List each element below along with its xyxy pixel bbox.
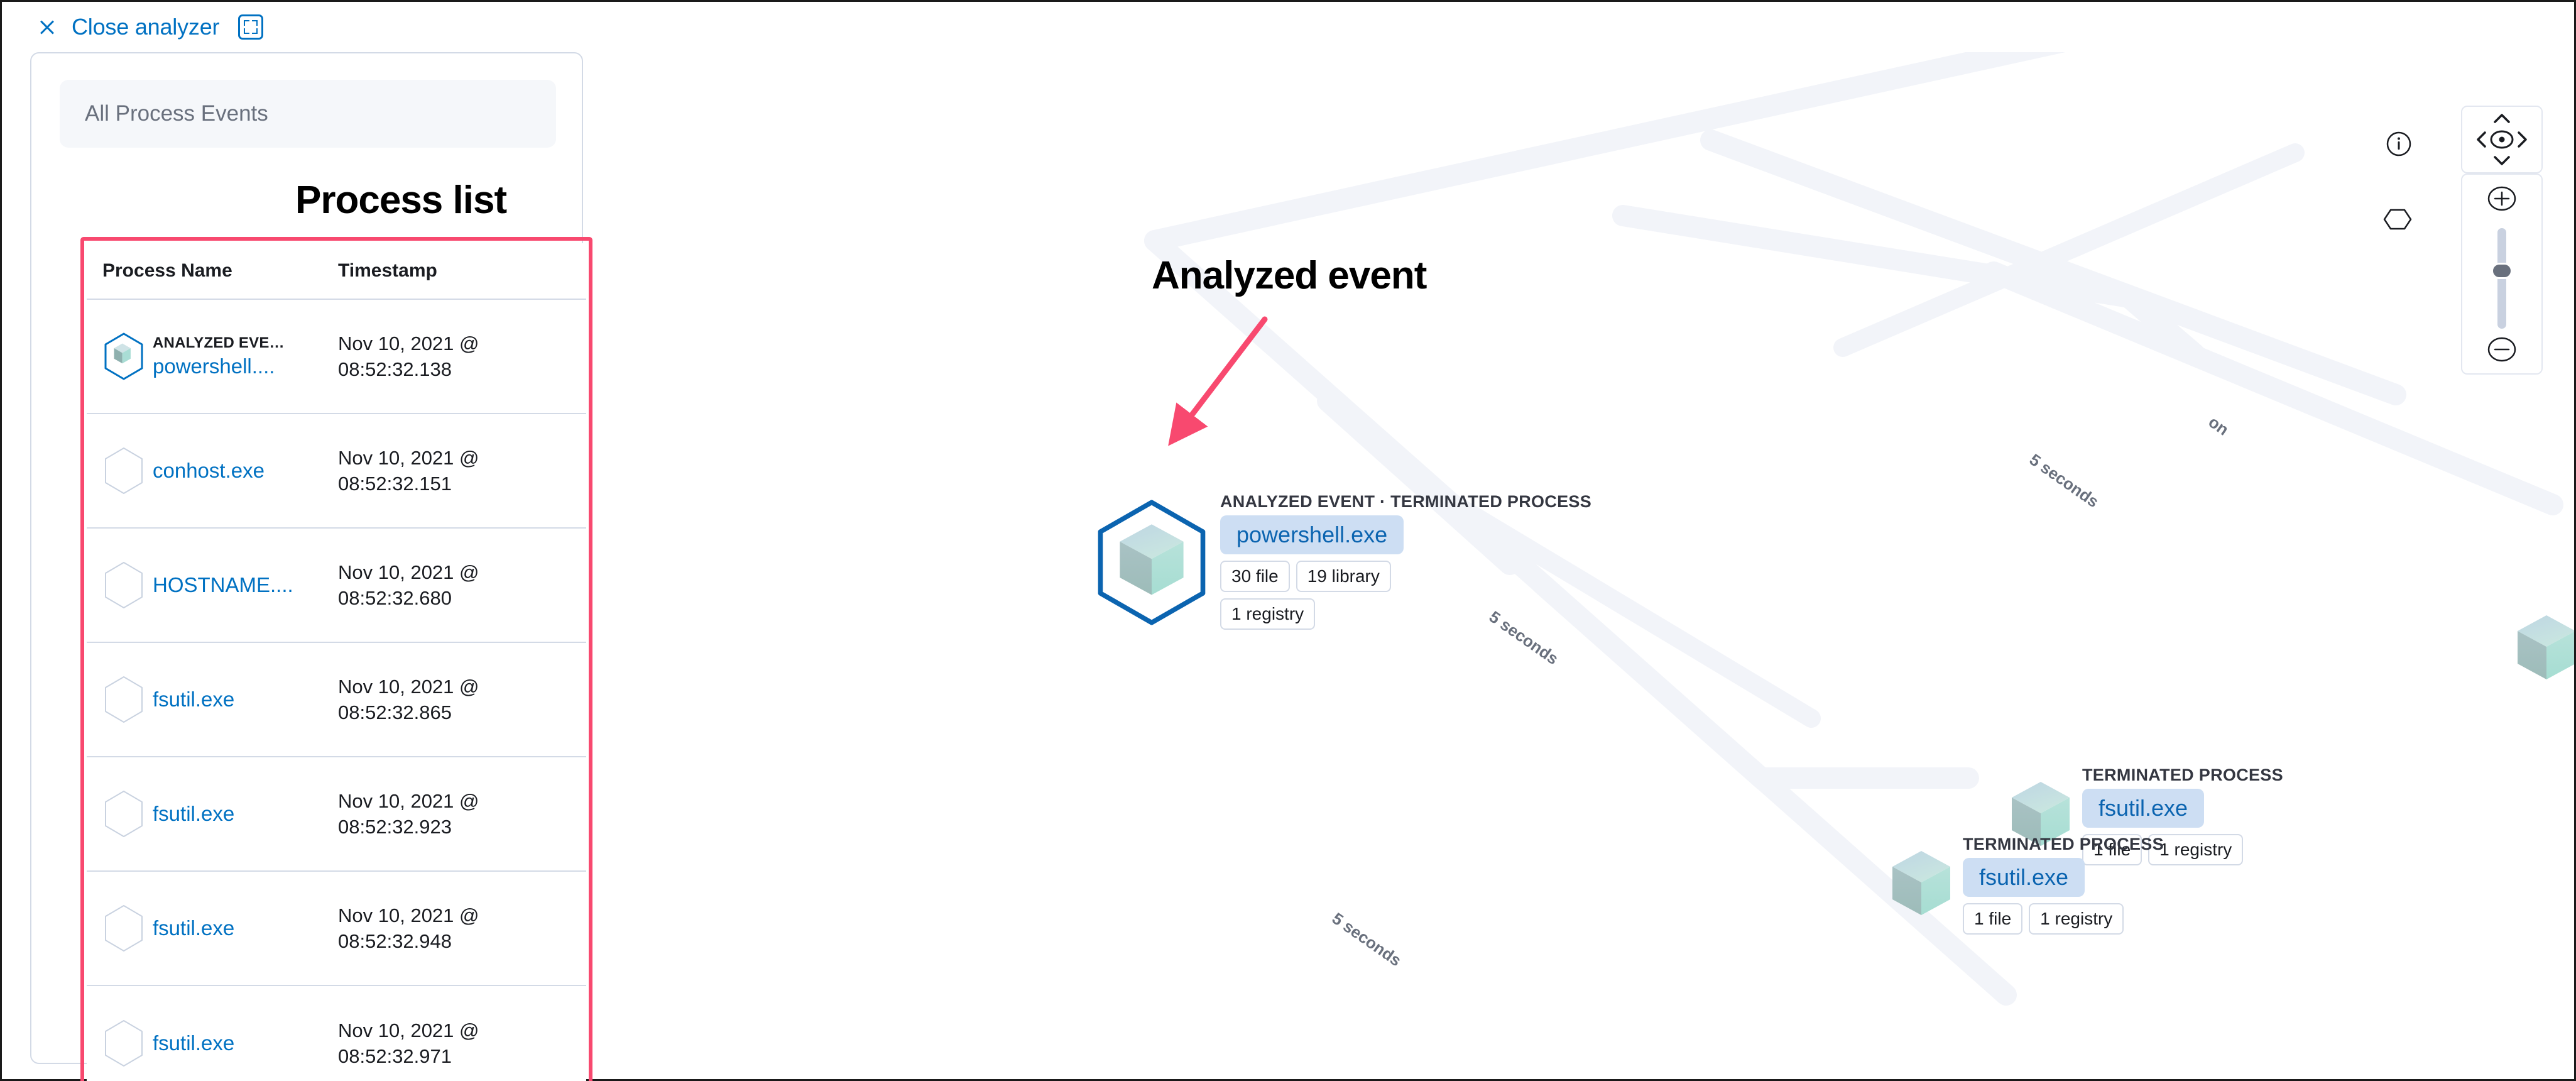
process-name-link[interactable]: fsutil.exe xyxy=(153,916,234,940)
process-hexagon-icon xyxy=(102,789,145,838)
graph-node-powershell[interactable]: ANALYZED EVENT · TERMINATED PROCESSpower… xyxy=(1117,492,1591,630)
table-row[interactable]: fsutil.exeNov 10, 2021 @08:52:32.948 xyxy=(87,872,586,986)
graph-node-fsutil-bottom[interactable]: TERMINATED PROCESSfsutil.exe1 file1 regi… xyxy=(1890,835,2164,935)
hexagon-icon[interactable] xyxy=(2383,205,2412,234)
table-row[interactable]: ANALYZED EVE…powershell....Nov 10, 2021 … xyxy=(87,300,586,414)
timestamp-date: Nov 10, 2021 @ xyxy=(338,1018,577,1043)
fullscreen-corner-tr xyxy=(252,20,258,26)
cell-timestamp: Nov 10, 2021 @08:52:32.138 xyxy=(338,331,577,382)
graph-node-fsutil-right[interactable]: TERMINATED Pfsutil.exe1 file1 regis xyxy=(2515,580,2574,718)
table-header-row: Process Name Timestamp xyxy=(87,243,586,300)
process-cube-icon[interactable] xyxy=(1890,849,1953,920)
pan-control-group[interactable] xyxy=(2461,106,2543,173)
table-row[interactable]: conhost.exeNov 10, 2021 @08:52:32.151 xyxy=(87,414,586,529)
plus-circle-icon[interactable] xyxy=(2487,186,2516,211)
table-row[interactable]: fsutil.exeNov 10, 2021 @08:52:32.971 xyxy=(87,986,586,1081)
column-header-process-name: Process Name xyxy=(87,260,338,282)
table-body: ANALYZED EVE…powershell....Nov 10, 2021 … xyxy=(87,300,586,1081)
node-process-label[interactable]: fsutil.exe xyxy=(2082,789,2204,828)
process-hexagon-icon xyxy=(102,675,145,724)
cell-timestamp: Nov 10, 2021 @08:52:32.865 xyxy=(338,674,577,725)
process-cube-icon[interactable] xyxy=(1117,522,1186,600)
info-circle-icon[interactable] xyxy=(2386,131,2412,157)
process-name-link[interactable]: conhost.exe xyxy=(153,459,265,483)
node-badge[interactable]: 1 registry xyxy=(1220,598,1315,630)
node-badge-group: 30 file19 library1 registry xyxy=(1220,561,1434,630)
timestamp-time: 08:52:32.138 xyxy=(338,356,577,382)
process-name-link[interactable]: fsutil.exe xyxy=(153,802,234,826)
annotation-arrow-icon xyxy=(1139,304,1315,467)
node-info: ANALYZED EVENT · TERMINATED PROCESSpower… xyxy=(1220,492,1591,630)
node-process-label[interactable]: fsutil.exe xyxy=(1963,858,2085,897)
analyzer-screen: Close analyzer All Process Events Proces… xyxy=(0,0,2576,1081)
cell-timestamp: Nov 10, 2021 @08:52:32.680 xyxy=(338,559,577,611)
analyzer-topbar: Close analyzer xyxy=(2,2,2574,52)
node-badge[interactable]: 19 library xyxy=(1296,561,1391,592)
process-name-stack: fsutil.exe xyxy=(153,916,234,940)
close-x-icon[interactable] xyxy=(36,16,58,38)
cell-timestamp: Nov 10, 2021 @08:52:32.971 xyxy=(338,1018,577,1069)
process-name-stack: fsutil.exe xyxy=(153,688,234,711)
annotation-process-list: Process list xyxy=(295,178,506,222)
process-list-panel: All Process Events Process list Process … xyxy=(30,52,583,1064)
timestamp-time: 08:52:32.923 xyxy=(338,814,577,840)
event-filter-tabstrip[interactable]: All Process Events xyxy=(60,80,556,148)
fullscreen-corner-br xyxy=(252,28,258,34)
timestamp-date: Nov 10, 2021 @ xyxy=(338,331,577,356)
timestamp-time: 08:52:32.948 xyxy=(338,928,577,954)
zoom-control-group[interactable] xyxy=(2461,173,2543,375)
cell-process-name: fsutil.exe xyxy=(87,675,338,724)
timestamp-date: Nov 10, 2021 @ xyxy=(338,674,577,700)
node-process-label[interactable]: powershell.exe xyxy=(1220,515,1404,554)
cell-timestamp: Nov 10, 2021 @08:52:32.923 xyxy=(338,788,577,840)
table-row[interactable]: HOSTNAME....Nov 10, 2021 @08:52:32.680 xyxy=(87,529,586,643)
process-name-link[interactable]: fsutil.exe xyxy=(153,1031,234,1055)
node-eyebrow: ANALYZED EVENT · TERMINATED PROCESS xyxy=(1220,492,1591,512)
close-analyzer-button[interactable]: Close analyzer xyxy=(72,14,219,40)
node-badge[interactable]: 30 file xyxy=(1220,561,1290,592)
cell-process-name: fsutil.exe xyxy=(87,904,338,953)
timestamp-date: Nov 10, 2021 @ xyxy=(338,903,577,928)
process-hexagon-icon xyxy=(102,561,145,610)
fullscreen-corner-tl xyxy=(244,20,249,26)
table-row[interactable]: fsutil.exeNov 10, 2021 @08:52:32.865 xyxy=(87,643,586,757)
timestamp-time: 08:52:32.151 xyxy=(338,471,577,497)
fullscreen-icon[interactable] xyxy=(238,14,263,40)
cell-process-name: ANALYZED EVE…powershell.... xyxy=(87,332,338,381)
zoom-slider-thumb[interactable] xyxy=(2491,263,2513,279)
process-table: Process Name Timestamp ANALYZED EVE…powe… xyxy=(87,243,586,1081)
timestamp-time: 08:52:32.865 xyxy=(338,700,577,725)
cell-process-name: conhost.exe xyxy=(87,446,338,495)
cell-timestamp: Nov 10, 2021 @08:52:32.948 xyxy=(338,903,577,954)
column-header-timestamp: Timestamp xyxy=(338,260,577,282)
process-name-stack: fsutil.exe xyxy=(153,1031,234,1055)
cell-process-name: HOSTNAME.... xyxy=(87,561,338,610)
minus-circle-icon[interactable] xyxy=(2487,337,2516,362)
node-eyebrow: TERMINATED PROCESS xyxy=(2082,765,2283,785)
tab-all-process-events[interactable]: All Process Events xyxy=(60,101,268,126)
cell-timestamp: Nov 10, 2021 @08:52:32.151 xyxy=(338,445,577,497)
cell-process-name: fsutil.exe xyxy=(87,1019,338,1068)
node-badge[interactable]: 1 registry xyxy=(2029,903,2124,935)
process-hexagon-icon xyxy=(102,446,145,495)
timestamp-date: Nov 10, 2021 @ xyxy=(338,445,577,471)
process-cube-icon[interactable] xyxy=(2515,613,2574,684)
process-name-link[interactable]: fsutil.exe xyxy=(153,688,234,711)
analyzed-cube-icon xyxy=(102,332,145,381)
timestamp-date: Nov 10, 2021 @ xyxy=(338,559,577,585)
timestamp-date: Nov 10, 2021 @ xyxy=(338,788,577,814)
table-row[interactable]: fsutil.exeNov 10, 2021 @08:52:32.923 xyxy=(87,757,586,872)
cell-process-name: fsutil.exe xyxy=(87,789,338,838)
process-name-stack: fsutil.exe xyxy=(153,802,234,826)
fullscreen-corner-bl xyxy=(244,28,249,34)
process-graph-canvas[interactable]: Analyzed event 5 seconds 5 seconds 5 sec… xyxy=(586,52,2574,1079)
process-hexagon-icon xyxy=(102,1019,145,1068)
process-hexagon-icon xyxy=(102,904,145,953)
process-name-link[interactable]: HOSTNAME.... xyxy=(153,573,293,597)
node-badge[interactable]: 1 file xyxy=(1963,903,2022,935)
node-badge-group: 1 file1 registry xyxy=(1963,903,2164,935)
node-info: TERMINATED PROCESSfsutil.exe1 file1 regi… xyxy=(1963,835,2164,935)
annotation-analyzed-event: Analyzed event xyxy=(1152,253,1426,298)
process-name-stack: HOSTNAME.... xyxy=(153,573,293,597)
timestamp-time: 08:52:32.971 xyxy=(338,1043,577,1069)
process-name-stack: conhost.exe xyxy=(153,459,265,483)
process-name-link[interactable]: powershell.... xyxy=(153,354,285,378)
analyzed-event-eyebrow: ANALYZED EVE… xyxy=(153,334,285,352)
process-name-stack: ANALYZED EVE…powershell.... xyxy=(153,334,285,378)
timestamp-time: 08:52:32.680 xyxy=(338,585,577,611)
node-eyebrow: TERMINATED PROCESS xyxy=(1963,835,2164,854)
